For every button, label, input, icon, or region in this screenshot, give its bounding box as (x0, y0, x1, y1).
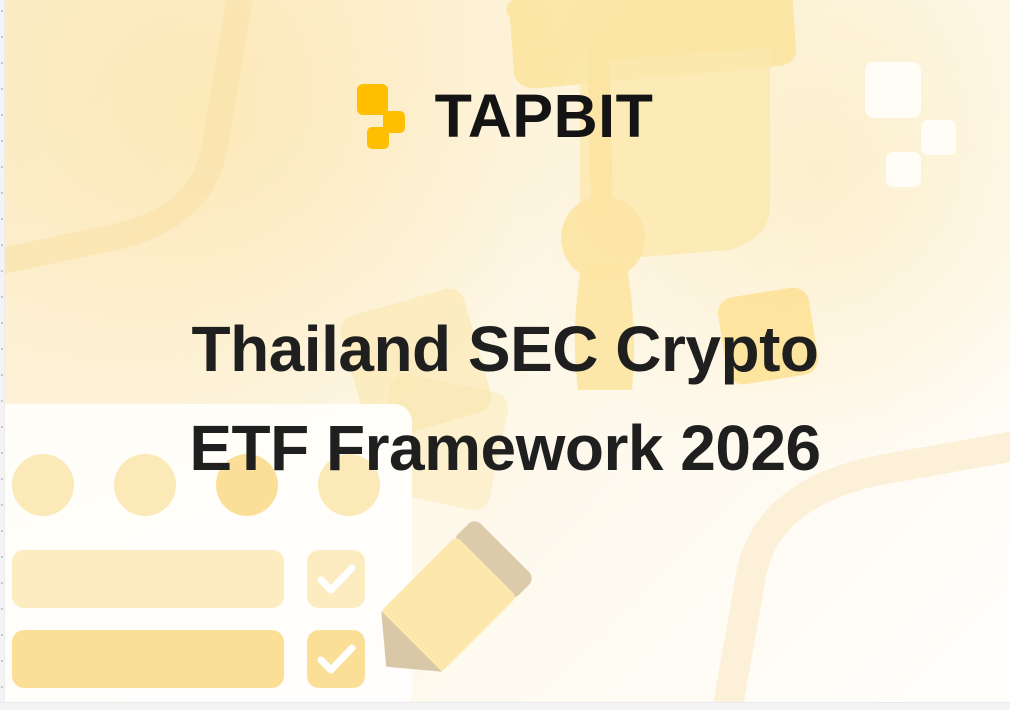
page-edge-tick (1, 192, 3, 194)
page-edge-tick (1, 374, 3, 376)
page-edge-tick (1, 348, 3, 350)
page-edge-tick (1, 634, 3, 636)
headline-block: Thailand SEC Crypto ETF Framework 2026 (0, 300, 1010, 498)
logo-square-large (357, 84, 388, 115)
banner-canvas: TAPBIT Thailand SEC Crypto ETF Framework… (0, 0, 1010, 710)
page-bottom-edge (0, 702, 1010, 710)
page-edge-tick (1, 426, 3, 428)
tapbit-wordmark: TAPBIT (435, 86, 654, 147)
page-edge-tick (1, 218, 3, 220)
page-edge-tick (1, 62, 3, 64)
headline-line-1: Thailand SEC Crypto (70, 300, 940, 399)
page-edge-tick (1, 114, 3, 116)
page-left-edge (0, 0, 5, 710)
page-edge-tick (1, 478, 3, 480)
brand-logo-lockup: TAPBIT (0, 84, 1010, 148)
page-edge-tick (1, 582, 3, 584)
page-edge-tick (1, 608, 3, 610)
page-edge-tick (1, 296, 3, 298)
page-edge-tick (1, 556, 3, 558)
page-edge-tick (1, 530, 3, 532)
page-edge-tick (1, 36, 3, 38)
page-edge-tick (1, 452, 3, 454)
page-edge-tick (1, 270, 3, 272)
page-edge-tick (1, 244, 3, 246)
page-edge-tick (1, 686, 3, 688)
page-edge-tick (1, 10, 3, 12)
page-edge-tick (1, 88, 3, 90)
tapbit-logo-mark (357, 84, 413, 148)
page-edge-tick (1, 140, 3, 142)
page-edge-tick (1, 400, 3, 402)
page-edge-tick (1, 166, 3, 168)
headline-line-2: ETF Framework 2026 (70, 399, 940, 498)
logo-square-small (367, 127, 389, 149)
page-edge-tick (1, 660, 3, 662)
page-edge-tick (1, 504, 3, 506)
page-edge-tick (1, 322, 3, 324)
